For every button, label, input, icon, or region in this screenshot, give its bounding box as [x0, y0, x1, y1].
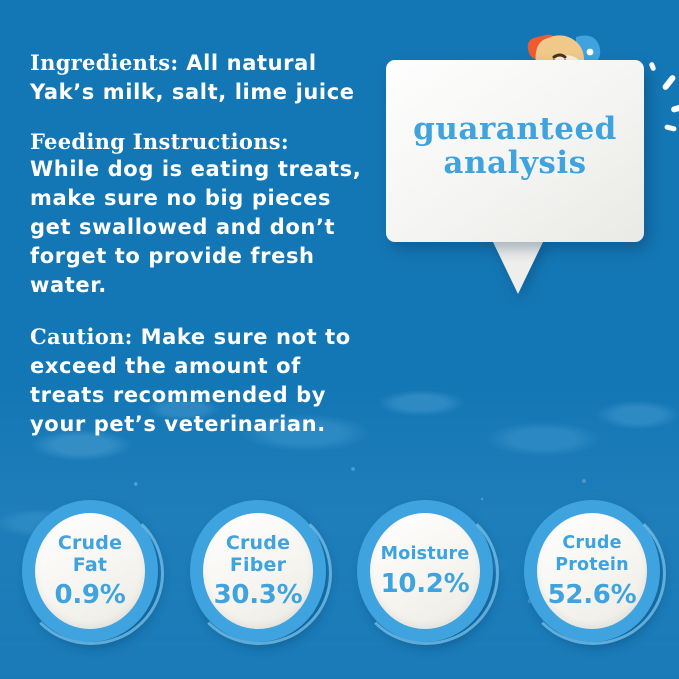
badge-moisture: Moisture 10.2% — [357, 500, 493, 642]
guaranteed-analysis-badges: Crude Fat 0.9% Crude Fiber 30.3% Moistur… — [0, 500, 679, 650]
badge-crude-fat: Crude Fat 0.9% — [22, 500, 158, 642]
ingredient-text-column: Ingredients: All natural Yak’s milk, sal… — [30, 48, 370, 439]
feeding-instructions-heading: Feeding Instructions: — [30, 129, 370, 154]
callout-tail — [492, 240, 544, 294]
badge-label-line1: Crude — [562, 533, 621, 553]
badge-label-line1: Crude — [226, 532, 290, 554]
badge-crude-fiber: Crude Fiber 30.3% — [190, 500, 326, 642]
badge-inner: Crude Fiber 30.3% — [203, 513, 313, 629]
sparkle-icon — [644, 56, 679, 136]
badge-label: Crude Fat — [52, 532, 128, 576]
callout-title-line1: guaranteed — [413, 111, 617, 147]
badge-inner: Crude Fat 0.9% — [35, 513, 145, 629]
sparkle-dash — [664, 124, 677, 132]
sparkle-dash — [661, 74, 676, 91]
badge-inner: Crude Protein 52.6% — [537, 513, 647, 629]
badge-value: 0.9% — [55, 580, 126, 610]
badge-label-line1: Moisture — [381, 544, 470, 564]
sparkle-dash — [670, 103, 679, 113]
badge-value: 10.2% — [381, 569, 470, 599]
badge-label: Moisture — [375, 543, 476, 565]
badge-label-line2: Fiber — [230, 554, 286, 576]
guaranteed-analysis-callout: guaranteed analysis — [386, 60, 648, 290]
ingredients-heading: Ingredients: — [30, 50, 178, 75]
badge-value: 30.3% — [214, 580, 303, 610]
badge-label: Crude Protein — [549, 532, 635, 576]
badge-label-line2: Fat — [73, 554, 107, 576]
badge-label: Crude Fiber — [220, 532, 296, 576]
paragraph-ingredients: Ingredients: All natural Yak’s milk, sal… — [30, 48, 370, 107]
caution-heading: Caution: — [30, 324, 133, 349]
feeding-instructions-body: While dog is eating treats, make sure no… — [30, 157, 361, 297]
product-label-panel: Ingredients: All natural Yak’s milk, sal… — [0, 0, 679, 679]
callout-title-line2: analysis — [443, 145, 586, 181]
paragraph-feeding-instructions: Feeding Instructions: While dog is eatin… — [30, 129, 370, 300]
badge-crude-protein: Crude Protein 52.6% — [524, 500, 660, 642]
sparkle-dash — [648, 61, 656, 71]
badge-label-line1: Crude — [58, 532, 122, 554]
badge-label-line2: Protein — [555, 555, 629, 575]
paragraph-caution: Caution: Make sure not to exceed the amo… — [30, 322, 370, 439]
callout-title: guaranteed analysis — [386, 112, 644, 180]
callout-body: guaranteed analysis — [386, 60, 644, 242]
badge-inner: Moisture 10.2% — [370, 513, 480, 629]
badge-value: 52.6% — [548, 580, 637, 610]
